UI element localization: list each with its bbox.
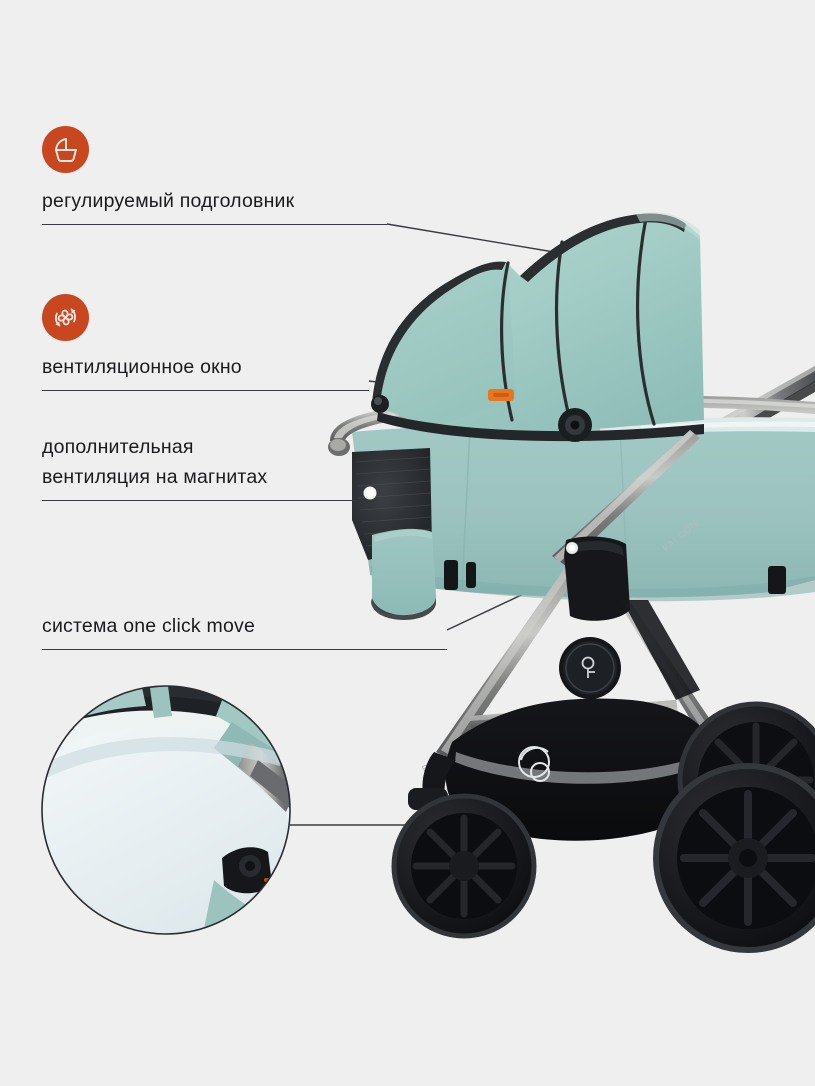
canopy — [371, 213, 704, 442]
callout-magnetic-ventilation: дополнительная вентиляция на магнитах — [42, 432, 356, 501]
callout-headrest: регулируемый подголовник — [42, 186, 387, 225]
callout-label-magnetic-ventilation-line1: дополнительная — [42, 432, 356, 462]
bassinet-icon — [42, 126, 89, 173]
magnetic-vent-flap — [371, 529, 436, 620]
callout-label-headrest: регулируемый подголовник — [42, 186, 387, 216]
callout-rule-magnetic-ventilation — [42, 500, 356, 501]
callout-label-magnetic-ventilation-line2: вентиляция на магнитах — [42, 462, 356, 492]
callout-rule-one-click-move — [42, 649, 447, 650]
fan-rotation-icon — [42, 294, 89, 341]
callout-rule-headrest — [42, 224, 387, 225]
product-illustration: FALCON — [0, 0, 815, 1086]
infographic-canvas: FALCON — [0, 0, 815, 1086]
callout-one-click-move: система one click move — [42, 611, 447, 650]
callout-label-ventilation-window: вентиляционное окно — [42, 352, 369, 382]
callout-label-one-click-move: система one click move — [42, 611, 447, 641]
callout-rule-ventilation-window — [42, 390, 369, 391]
wheel-front — [394, 796, 534, 936]
callout-ventilation-window: вентиляционное окно — [42, 352, 369, 391]
wheel-rear-near — [656, 766, 815, 950]
inset-closeup — [20, 678, 300, 948]
